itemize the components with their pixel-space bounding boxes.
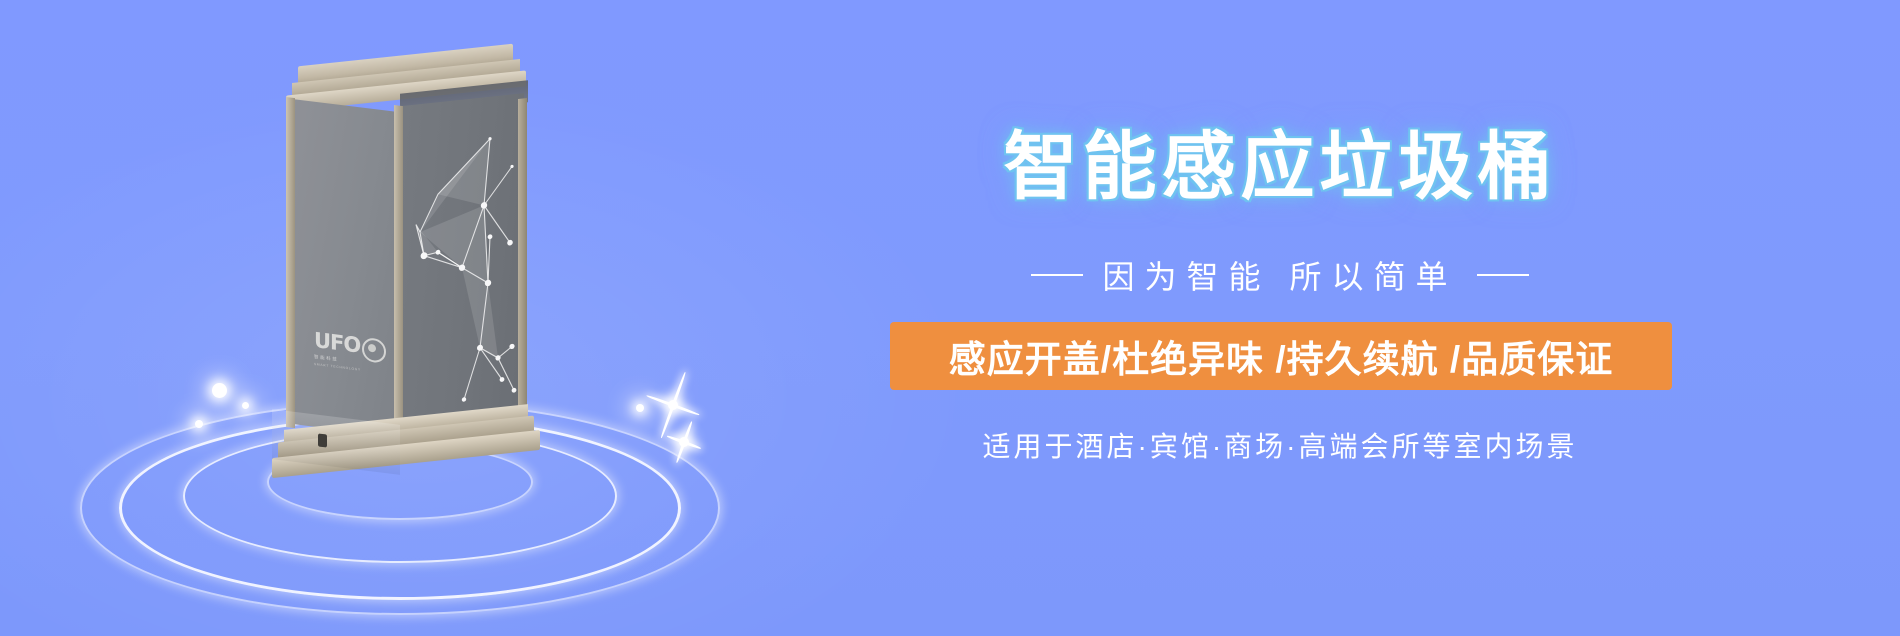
star-sparkle-icon — [662, 420, 706, 464]
subtitle-text: 因为智能 所以简单 — [1103, 252, 1458, 298]
base-vent-slot — [318, 433, 327, 447]
body-edge-right — [518, 98, 527, 421]
body-edge-left — [286, 97, 295, 428]
subtitle-rule-left — [1031, 274, 1083, 276]
feature-tagline-text: 感应开盖/杜绝异味 /持久续航 /品质保证 — [949, 329, 1613, 383]
smart-trash-can: UFO 智能科技 SMART TECHNOLOGY — [240, 55, 550, 475]
usage-scenarios-text: 适用于酒店·宾馆·商场·高端会所等室内场景 — [880, 425, 1680, 465]
product-banner: UFO 智能科技 SMART TECHNOLOGY 智能感应垃圾桶 因为智能 所… — [0, 0, 1900, 636]
ufo-brand-logo: UFO 智能科技 SMART TECHNOLOGY — [314, 330, 388, 385]
product-scene: UFO 智能科技 SMART TECHNOLOGY — [60, 0, 780, 636]
body-edge-center — [394, 105, 403, 428]
body-face-left — [292, 99, 400, 437]
banner-copy-block: 智能感应垃圾桶 因为智能 所以简单 感应开盖/杜绝异味 /持久续航 /品质保证 … — [880, 0, 1840, 636]
feature-tagline-bar: 感应开盖/杜绝异味 /持久续航 /品质保证 — [890, 322, 1672, 390]
sparkle-icon — [212, 383, 227, 398]
subtitle-rule-right — [1477, 274, 1529, 276]
banner-title: 智能感应垃圾桶 — [880, 130, 1680, 204]
polygon-network-graphic — [402, 93, 527, 428]
banner-subtitle: 因为智能 所以简单 — [880, 252, 1680, 298]
sparkle-icon — [195, 420, 203, 428]
